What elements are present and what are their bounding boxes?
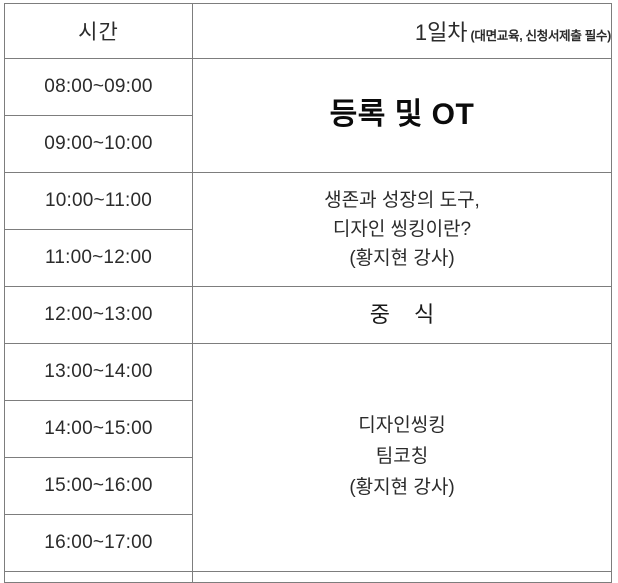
time-slot-1300: 13:00~14:00 xyxy=(5,344,193,401)
session-design-thinking-team-coaching: 디자인씽킹 팀코칭 (황지현 강사) xyxy=(193,344,612,572)
time-slot-0800: 08:00~09:00 xyxy=(5,59,193,116)
time-slot-1200: 12:00~13:00 xyxy=(5,287,193,344)
table-row: 08:00~09:00 등록 및 OT xyxy=(5,59,612,116)
time-slot-partial xyxy=(5,572,193,583)
table-row: 10:00~11:00 생존과 성장의 도구, 디자인 씽킹이란? (황지현 강… xyxy=(5,173,612,230)
session-registration-ot: 등록 및 OT xyxy=(193,59,612,173)
session-partial xyxy=(193,572,612,583)
time-slot-1100: 11:00~12:00 xyxy=(5,230,193,287)
table-row: 13:00~14:00 디자인씽킹 팀코칭 (황지현 강사) xyxy=(5,344,612,401)
session-line: 중 식 xyxy=(193,299,611,330)
session-design-thinking-intro: 생존과 성장의 도구, 디자인 씽킹이란? (황지현 강사) xyxy=(193,173,612,287)
schedule-container: 시간 1일차(대면교육, 신청서제출 필수) 08:00~09:00 등록 및 … xyxy=(0,0,618,571)
session-line: 디자인씽킹 xyxy=(193,411,611,442)
session-lunch: 중 식 xyxy=(193,287,612,344)
time-slot-1500: 15:00~16:00 xyxy=(5,458,193,515)
column-header-day1: 1일차(대면교육, 신청서제출 필수) xyxy=(193,4,612,59)
session-line: 팀코칭 xyxy=(193,442,611,473)
table-row-partial xyxy=(5,572,612,583)
session-instructor: (황지현 강사) xyxy=(193,244,611,273)
table-row: 12:00~13:00 중 식 xyxy=(5,287,612,344)
time-slot-1400: 14:00~15:00 xyxy=(5,401,193,458)
column-header-time: 시간 xyxy=(5,4,193,59)
session-line: 생존과 성장의 도구, xyxy=(193,186,611,215)
day1-label: 1일차 xyxy=(415,20,468,45)
session-line: 등록 및 OT xyxy=(193,94,611,137)
time-slot-0900: 09:00~10:00 xyxy=(5,116,193,173)
day1-note: (대면교육, 신청서제출 필수) xyxy=(471,29,611,43)
schedule-table: 시간 1일차(대면교육, 신청서제출 필수) 08:00~09:00 등록 및 … xyxy=(4,3,612,583)
session-line: 디자인 씽킹이란? xyxy=(193,215,611,244)
time-slot-1000: 10:00~11:00 xyxy=(5,173,193,230)
table-header-row: 시간 1일차(대면교육, 신청서제출 필수) xyxy=(5,4,612,59)
time-slot-1600: 16:00~17:00 xyxy=(5,515,193,572)
session-instructor: (황지현 강사) xyxy=(193,473,611,504)
